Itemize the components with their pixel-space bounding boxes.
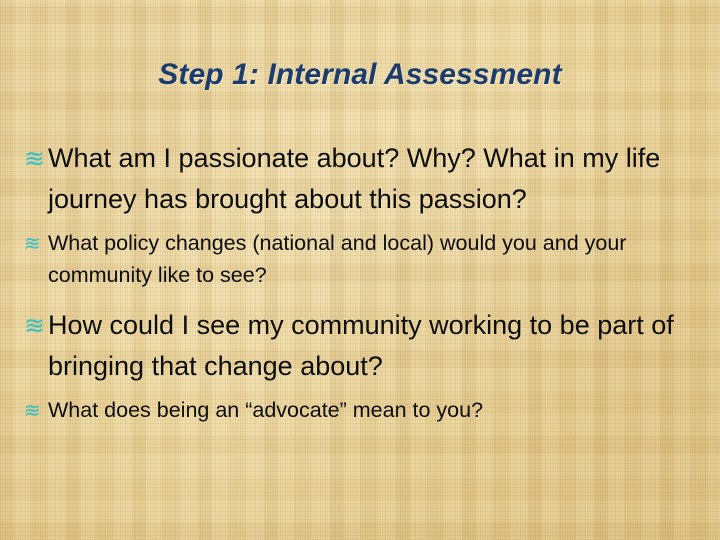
bullet-item-2: ≋What policy changes (national and local… [24, 227, 696, 291]
bullet-item-2-text: What policy changes (national and local)… [48, 231, 626, 287]
slide-title: Step 1: Internal Assessment [0, 58, 720, 92]
bullet-item-3: ≋How could I see my community working to… [24, 305, 696, 386]
ornamental-swirl-bullet-icon: ≋ [24, 394, 48, 426]
bullet-item-1-text: What am I passionate about? Why? What in… [48, 143, 660, 214]
bullet-item-4-text: What does being an “advocate” mean to yo… [48, 398, 483, 422]
presentation-slide: Step 1: Internal Assessment ≋What am I p… [0, 0, 720, 540]
bullet-item-1: ≋What am I passionate about? Why? What i… [24, 138, 696, 219]
slide-content: Step 1: Internal Assessment ≋What am I p… [0, 0, 720, 540]
slide-body-bullet-list: ≋What am I passionate about? Why? What i… [24, 138, 696, 426]
ornamental-swirl-bullet-icon: ≋ [24, 227, 48, 259]
bullet-item-3-text: How could I see my community working to … [48, 310, 674, 381]
ornamental-swirl-bullet-icon: ≋ [24, 306, 48, 346]
bullet-item-4: ≋What does being an “advocate” mean to y… [24, 394, 696, 426]
ornamental-swirl-bullet-icon: ≋ [24, 139, 48, 179]
